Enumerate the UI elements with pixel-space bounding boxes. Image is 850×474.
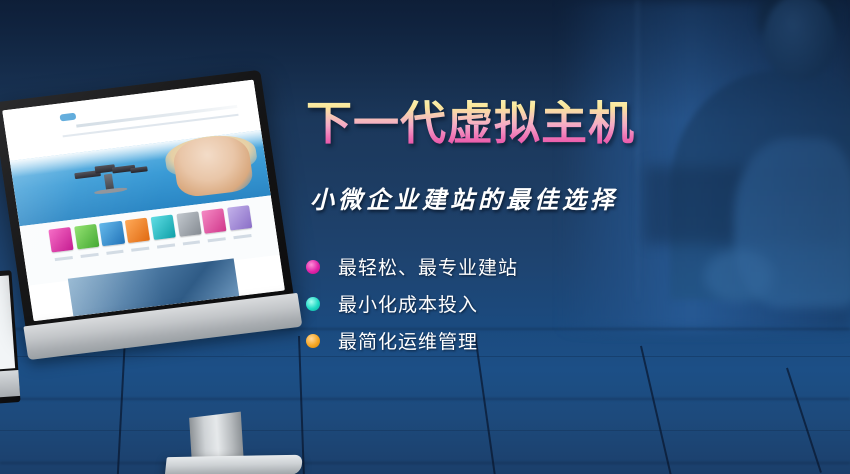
desktop-monitor — [0, 70, 294, 330]
website-preview — [2, 80, 285, 322]
person-head — [764, 0, 836, 80]
app-icon — [150, 214, 176, 240]
bullet-dot-magenta-icon — [306, 260, 320, 274]
monitor-stand-foot — [165, 455, 303, 474]
app-icon — [48, 227, 74, 253]
bullet-dot-teal-icon — [306, 297, 320, 311]
app-icon — [125, 217, 151, 243]
feature-label: 最小化成本投入 — [338, 290, 478, 317]
list-item: 最简化运维管理 — [306, 322, 606, 359]
bullet-dot-orange-icon — [306, 334, 320, 348]
promo-banner: 下一代虚拟主机 小微企业建站的最佳选择 最轻松、最专业建站 最小化成本投入 最简… — [0, 0, 850, 474]
app-icon — [74, 223, 100, 249]
secondary-monitor-chin — [0, 370, 20, 400]
app-icon — [227, 205, 253, 231]
website-logo — [59, 113, 76, 122]
monitor-screen — [2, 80, 285, 322]
list-item: 最轻松、最专业建站 — [306, 248, 606, 285]
app-icon — [99, 220, 125, 246]
feature-label: 最轻松、最专业建站 — [338, 253, 518, 280]
page-subtitle: 小微企业建站的最佳选择 — [310, 180, 618, 215]
feature-label: 最简化运维管理 — [338, 327, 478, 354]
feature-list: 最轻松、最专业建站 最小化成本投入 最简化运维管理 — [306, 248, 606, 359]
person-hand — [704, 250, 774, 302]
person-silhouette — [630, 0, 850, 318]
list-item: 最小化成本投入 — [306, 285, 606, 322]
website-hero-device-cluster — [71, 148, 153, 203]
app-icon — [201, 208, 227, 234]
app-icon — [176, 211, 202, 237]
page-title: 下一代虚拟主机 — [306, 100, 635, 146]
